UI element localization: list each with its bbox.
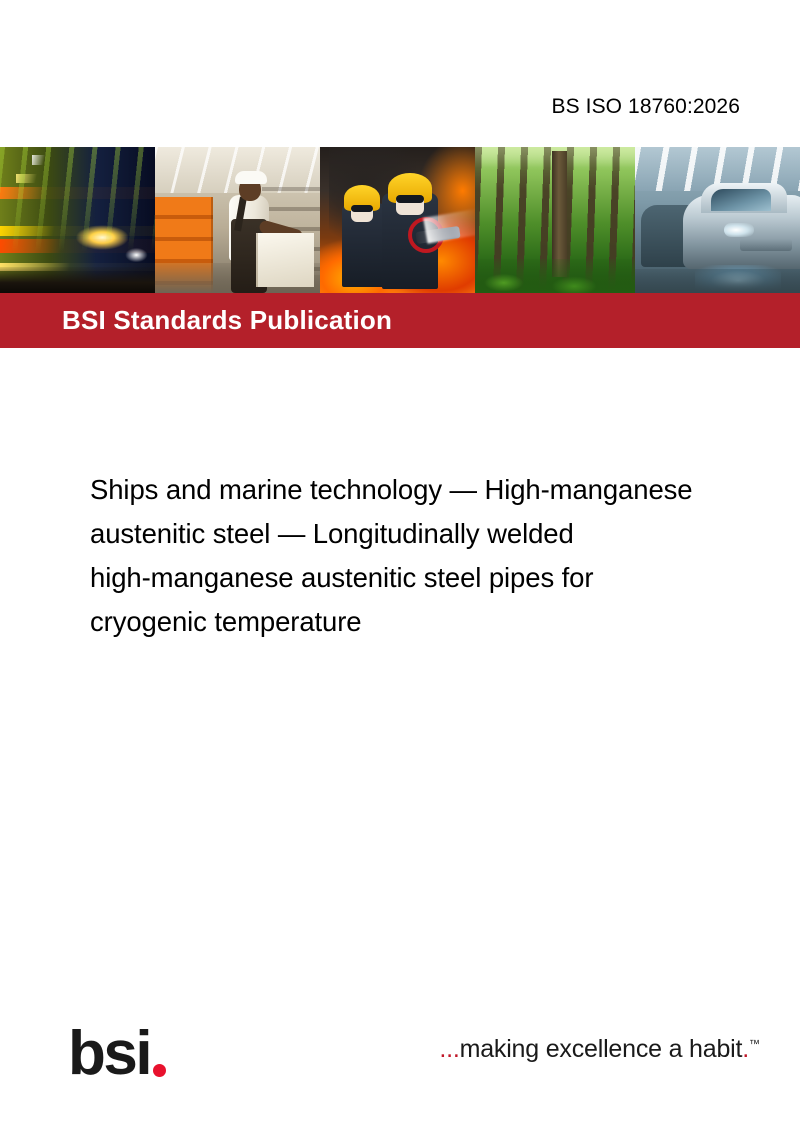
title-line-3: high-manganese austenitic steel pipes fo…: [90, 556, 800, 600]
page-title: Ships and marine technology — High-manga…: [90, 468, 800, 644]
car-windshield: [711, 189, 771, 211]
title-line-1: Ships and marine technology — High-manga…: [90, 468, 800, 512]
photo-panel-warehouse-worker: [155, 147, 320, 293]
firefighter-front-visor: [396, 195, 424, 203]
banner-label: BSI Standards Publication: [62, 305, 392, 336]
bsi-standards-banner: BSI Standards Publication: [0, 293, 800, 348]
tagline-leading-dots: ...: [439, 1035, 459, 1063]
photo-panel-car-assembly: [635, 147, 800, 293]
worker-cap: [235, 171, 267, 184]
trademark-icon: ™: [749, 1039, 760, 1051]
warehouse-box: [256, 233, 314, 287]
tagline-period: .: [742, 1035, 749, 1063]
standard-cover-page: BS ISO 18760:2026: [0, 0, 800, 1132]
photo-panel-forest: [475, 147, 635, 293]
bsi-logo-wordmark: bsi: [68, 1029, 150, 1080]
bsi-logo: bsi: [68, 1029, 166, 1080]
document-reference: BS ISO 18760:2026: [551, 95, 740, 119]
tagline-text: making excellence a habit: [460, 1035, 743, 1063]
bsi-tagline: ...making excellence a habit.™: [439, 1035, 760, 1064]
photo-panel-traffic-light-trails: [0, 147, 155, 293]
car-headlight: [724, 223, 754, 237]
title-line-2: austenitic steel — Longitudinally welded: [90, 512, 800, 556]
firefighter-rear-visor: [351, 205, 373, 212]
title-line-4: cryogenic temperature: [90, 600, 800, 644]
bsi-logo-dot-icon: [153, 1064, 166, 1077]
page-footer: bsi ...making excellence a habit.™: [0, 1004, 800, 1084]
factory-floor: [635, 269, 800, 293]
car-grille: [740, 239, 792, 251]
cover-photo-strip: [0, 147, 800, 293]
forest-underbrush: [475, 259, 635, 293]
photo-panel-firefighters: [320, 147, 475, 293]
